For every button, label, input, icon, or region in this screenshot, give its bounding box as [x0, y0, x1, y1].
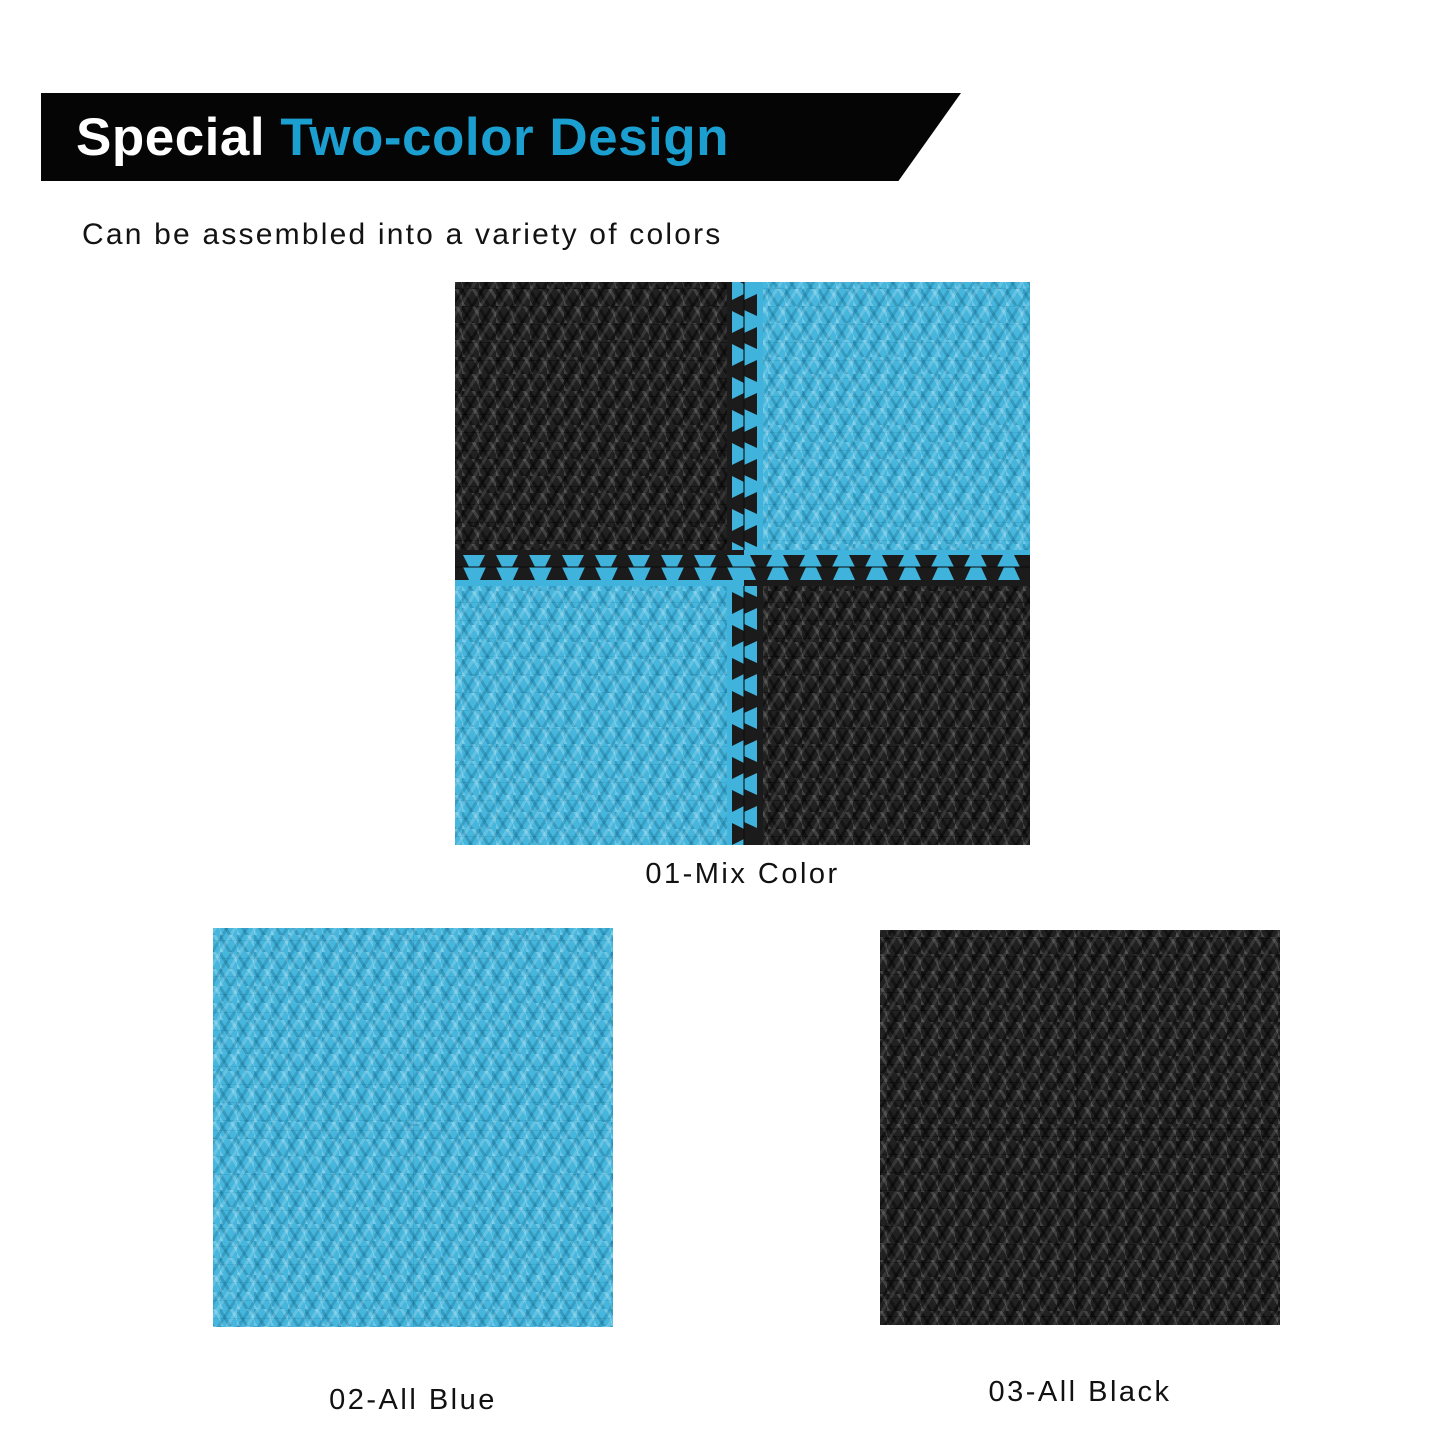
mat-all-blue [213, 928, 613, 1327]
header-banner: Special Two-color Design [41, 93, 961, 181]
mat-mix-color [455, 282, 1030, 845]
tile-bottom-left-blue [455, 567, 744, 845]
diamond-plate-texture [455, 567, 744, 845]
diamond-plate-texture [744, 282, 1030, 567]
banner-title-primary: Special [76, 108, 280, 167]
mat-all-blue-label: 02-All Blue [213, 1384, 613, 1417]
tile-top-left-black [455, 282, 744, 567]
banner-title-accent: Two-color Design [280, 108, 729, 167]
tile-bottom-right-black [744, 567, 1030, 845]
mat-all-black [880, 930, 1280, 1325]
diamond-plate-texture [213, 928, 613, 1327]
tile-top-right-blue [744, 282, 1030, 567]
diamond-plate-texture [744, 567, 1030, 845]
banner-title: Special Two-color Design [41, 111, 729, 164]
subtitle-text: Can be assembled into a variety of color… [82, 218, 722, 252]
diamond-plate-texture [455, 282, 744, 567]
mat-mix-color-label: 01-Mix Color [455, 858, 1030, 891]
mat-all-black-label: 03-All Black [880, 1376, 1280, 1409]
diamond-plate-texture [880, 930, 1280, 1325]
